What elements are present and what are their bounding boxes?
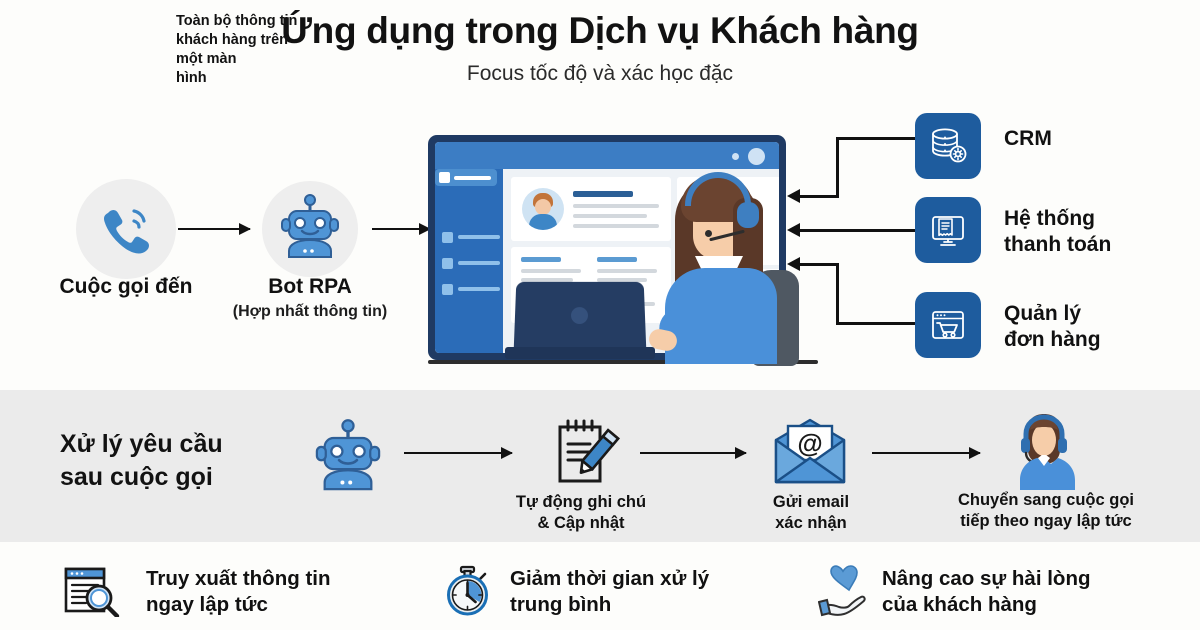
- profile-name-line: [573, 191, 633, 197]
- screen-callout-text: Toàn bộ thông tin khách hàng trên một mà…: [176, 12, 308, 89]
- sidebar-item-label: [458, 261, 500, 265]
- step-label-email: Gửi email xác nhận: [718, 492, 904, 534]
- arrow-notes-to-email: [640, 452, 746, 454]
- detail-heading-line: [597, 257, 637, 262]
- call-agent-illustration: [655, 172, 795, 362]
- profile-detail-line: [573, 214, 647, 218]
- sidebar-item-label: [454, 176, 491, 180]
- robot-icon: [275, 193, 345, 265]
- detail-heading-line: [521, 257, 561, 262]
- avatar-face: [535, 199, 551, 215]
- post-call-bot-icon-wrap: [308, 418, 388, 498]
- benefit-label-handle-time: Giảm thời gian xử lý trung bình: [510, 566, 709, 618]
- system-tile-billing[interactable]: [915, 197, 981, 263]
- sidebar-item-label: [458, 287, 500, 291]
- agent-headset-icon: [1002, 412, 1086, 494]
- detail-line: [597, 269, 657, 273]
- monitor-invoice-icon: [928, 210, 968, 250]
- infographic-canvas: Ứng dụng trong Dịch vụ Khách hàng Focus …: [0, 0, 1200, 630]
- profile-detail-line: [573, 224, 659, 228]
- incoming-call-node: [76, 179, 176, 279]
- clock-icon: [442, 258, 453, 269]
- post-call-heading: Xử lý yêu cầu sau cuộc gọi: [60, 428, 310, 493]
- system-tile-orders[interactable]: [915, 292, 981, 358]
- svg-text:@: @: [797, 428, 822, 458]
- notepad-pencil-icon: [538, 414, 622, 494]
- benefit-label-satisfaction: Nâng cao sự hài lòng của khách hàng: [882, 566, 1090, 618]
- step-label-notes: Tự động ghi chú & Cập nhật: [488, 492, 674, 534]
- headset-band-icon: [685, 172, 751, 206]
- headset-mic-tip: [705, 230, 712, 237]
- laptop-illustration: [505, 281, 655, 366]
- system-label-crm: CRM: [1004, 126, 1052, 152]
- avatar-body: [529, 214, 557, 230]
- benefit-icon-handle-time: [440, 565, 502, 617]
- stopwatch-icon: [440, 565, 496, 617]
- laptop-base: [505, 347, 655, 359]
- robot-icon: [308, 418, 388, 498]
- sidebar-item-2: [442, 231, 500, 243]
- titlebar-dot-small: [732, 153, 739, 160]
- arrow-bot-to-notes: [404, 452, 512, 454]
- avatar: [522, 188, 564, 230]
- user-icon: [439, 172, 450, 183]
- step-icon-notes: [538, 414, 622, 494]
- phone-ringing-icon: [94, 197, 158, 261]
- email-envelope-icon: @: [768, 414, 852, 494]
- detail-line: [521, 269, 581, 273]
- sidebar-item-4: [442, 283, 500, 295]
- laptop-lid: [514, 282, 647, 352]
- profile-detail-line: [573, 204, 659, 208]
- app-sidebar: [435, 169, 503, 353]
- rpa-bot-label: Bot RPA: [220, 275, 400, 299]
- browser-cart-icon: [928, 305, 968, 345]
- sidebar-item-active: [435, 169, 497, 186]
- arrow-bot-to-screen: [372, 228, 430, 230]
- rpa-bot-node: [262, 181, 358, 277]
- database-gear-icon: [928, 126, 968, 166]
- step-label-next-call: Chuyển sang cuộc gọi tiếp theo ngay lập …: [932, 490, 1160, 532]
- step-icon-next-call: [1002, 412, 1086, 492]
- benefit-icon-retrieval: [62, 565, 124, 617]
- customer-profile-card: [511, 177, 671, 241]
- sidebar-item-3: [442, 257, 500, 269]
- benefit-label-retrieval: Truy xuất thông tin ngay lập tức: [146, 566, 331, 618]
- incoming-call-label: Cuộc gọi đến: [26, 275, 226, 299]
- heart-hand-icon: [818, 562, 880, 618]
- system-tile-crm[interactable]: [915, 113, 981, 179]
- document-search-icon: [62, 565, 124, 617]
- rpa-bot-sublabel: (Hợp nhất thông tin): [198, 303, 422, 321]
- laptop-logo: [571, 307, 588, 324]
- headset-earcup-icon: [737, 202, 759, 228]
- benefit-icon-satisfaction: [818, 562, 880, 614]
- titlebar-dot-large: [748, 148, 765, 165]
- step-icon-email: @: [768, 414, 852, 494]
- arrow-email-to-next-call: [872, 452, 980, 454]
- system-label-orders: Quản lý đơn hàng: [1004, 301, 1101, 352]
- system-label-billing: Hệ thống thanh toán: [1004, 206, 1111, 257]
- app-titlebar: [435, 142, 779, 169]
- list-icon: [442, 232, 453, 243]
- sidebar-item-label: [458, 235, 500, 239]
- arrow-call-to-bot: [178, 228, 250, 230]
- chart-icon: [442, 284, 453, 295]
